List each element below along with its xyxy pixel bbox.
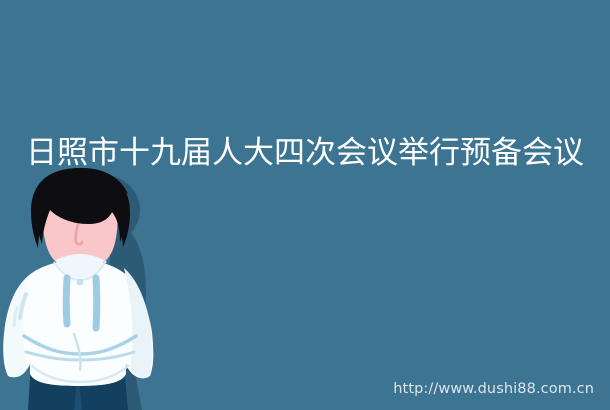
source-url-watermark: http://www.dushi88.com.cn: [393, 380, 594, 398]
screenshot-canvas: 日照市十九届人大四次会议举行预备会议 http://www.dushi88.co…: [0, 0, 610, 410]
hoodie-shape: [3, 260, 153, 386]
person-illustration: [0, 168, 196, 410]
page-title: 日照市十九届人大四次会议举行预备会议: [26, 130, 592, 176]
